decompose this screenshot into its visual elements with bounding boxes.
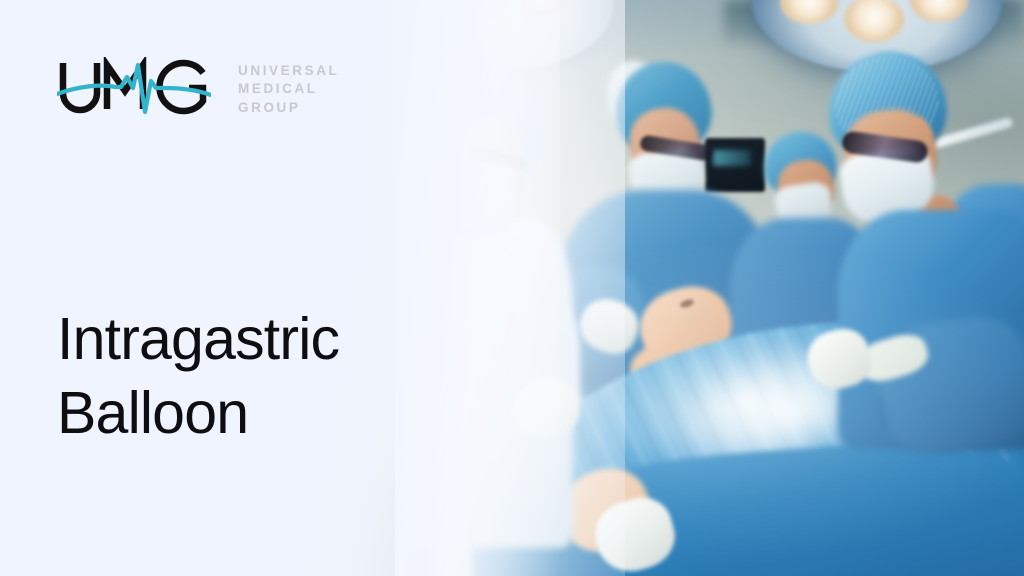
slide-content: UNIVERSAL MEDICAL GROUP Intragastric Bal… — [0, 0, 1024, 576]
brand-name-line-3: GROUP — [238, 100, 339, 116]
brand-name-line-2: MEDICAL — [238, 81, 339, 97]
brand-name: UNIVERSAL MEDICAL GROUP — [238, 61, 339, 116]
presentation-slide: UNIVERSAL MEDICAL GROUP Intragastric Bal… — [0, 0, 1024, 576]
page-title: Intragastric Balloon — [57, 302, 487, 451]
brand-logo: UNIVERSAL MEDICAL GROUP — [57, 57, 339, 119]
umg-monogram-with-ecg — [57, 57, 211, 119]
brand-name-line-1: UNIVERSAL — [238, 63, 339, 79]
umg-logomark-svg — [57, 57, 211, 119]
